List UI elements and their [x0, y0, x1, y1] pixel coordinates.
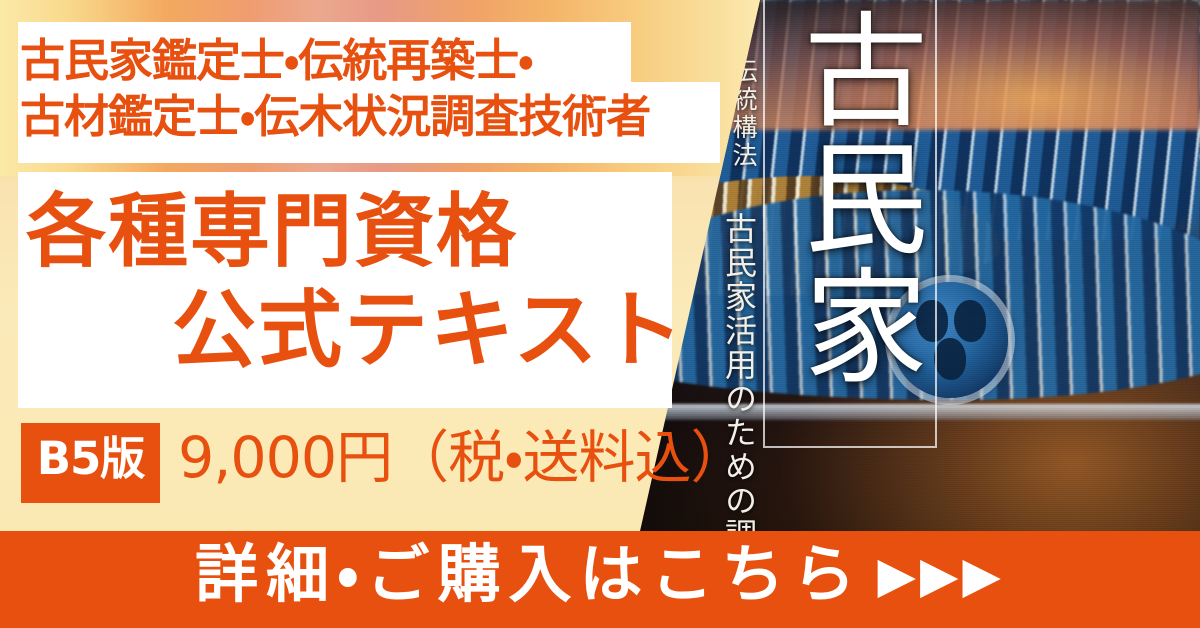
cover-title: 古民家 — [772, 6, 922, 390]
certification-line-1: 古民家鑑定士・伝統再築士・ — [20, 38, 533, 83]
format-badge-label: B5版 — [21, 436, 160, 481]
headline-line-2: 公式テキスト — [172, 288, 685, 372]
triple-right-arrow-icon: ▶▶▶ — [878, 550, 1005, 600]
headline-line-1: 各種専門資格 — [26, 192, 518, 272]
price-label: 9,000円（税・送料込） — [178, 430, 747, 487]
promo-banner[interactable]: 伝統構法 古民家活用のための調査と再生の 古民家 古民家鑑定士・伝統再築士・ 古… — [0, 0, 1200, 628]
cta-label[interactable]: 詳細・ご購入はこちら — [195, 538, 863, 611]
format-badge: B5版 — [21, 423, 160, 503]
certification-line-2: 古材鑑定士・伝木状況調査技術者 — [20, 94, 650, 139]
cta-text-wrapper[interactable]: 詳細・ご購入はこちら▶▶▶ — [0, 543, 1200, 606]
